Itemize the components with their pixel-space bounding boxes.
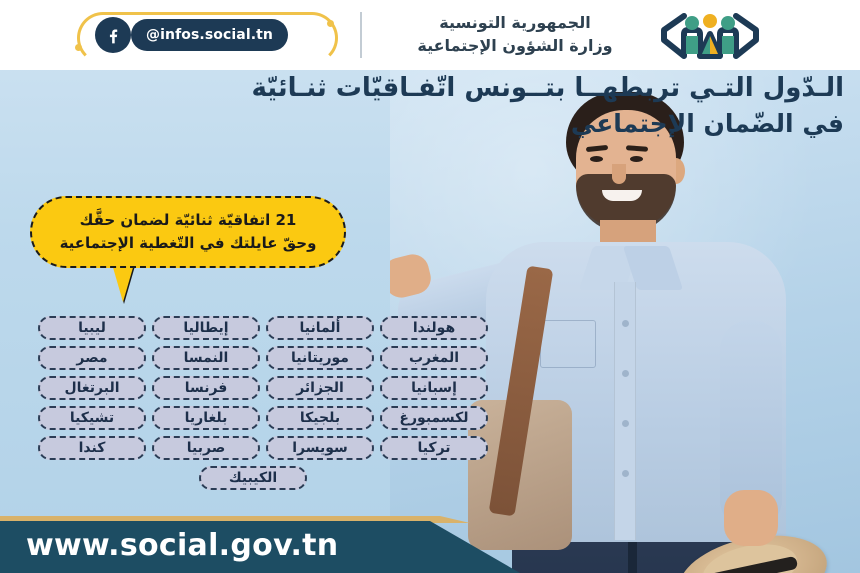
page-footer: www.social.gov.tn [0, 515, 520, 573]
country-chip[interactable]: مصر [38, 346, 146, 370]
chip-row: إسبانيا الجزائر فرنسا البرتغال [18, 376, 488, 400]
country-chip[interactable]: إيطاليا [152, 316, 260, 340]
country-chip[interactable]: بلجيكا [266, 406, 374, 430]
chip-row: المغرب موريتانيا النمسا مصر [18, 346, 488, 370]
swoosh-dot [75, 44, 82, 51]
country-chip[interactable]: الكيبيك [199, 466, 307, 490]
speech-bubble-tail [112, 264, 134, 302]
handle-pill[interactable]: @infos.social.tn [131, 19, 288, 51]
country-chip[interactable]: الجزائر [266, 376, 374, 400]
ministry-name: الجمهورية التونسية وزارة الشؤون الإجتماع… [395, 11, 635, 57]
bubble-line-1: 21 اتفاقيّة ثنائيّة لضمان حقَّك [80, 209, 297, 232]
title-line-1: الـدّول التـي تربطهــا بتــونس اتّفـاقيّ… [241, 74, 844, 104]
chip-row: لكسمبورغ بلجيكا بلغاريا تشيكيا [18, 406, 488, 430]
shirt-button [622, 470, 629, 477]
jeans-leg-split [628, 540, 637, 573]
facebook-icon[interactable] [95, 17, 131, 53]
chip-row: الكيبيك [18, 466, 488, 490]
country-chip[interactable]: إسبانيا [380, 376, 488, 400]
poster-root: @infos.social.tn الجمهورية التونسية وزار… [0, 0, 860, 573]
title-line-2: في الضّمان الإجتماعي [241, 110, 844, 139]
shirt-button [622, 320, 629, 327]
country-chip[interactable]: هولندا [380, 316, 488, 340]
shirt-pocket [540, 320, 596, 368]
handle-text: @infos.social.tn [146, 27, 273, 43]
chip-row: هولندا ألمانيا إيطاليا ليبيا [18, 316, 488, 340]
social-badge-group: @infos.social.tn [95, 0, 302, 70]
country-chip[interactable]: ألمانيا [266, 316, 374, 340]
country-chip[interactable]: لكسمبورغ [380, 406, 488, 430]
page-title: الـدّول التـي تربطهــا بتــونس اتّفـاقيّ… [241, 74, 844, 139]
website-url[interactable]: www.social.gov.tn [26, 528, 338, 563]
ministry-logo [650, 6, 770, 64]
country-chip[interactable]: موريتانيا [266, 346, 374, 370]
shirt-button [622, 420, 629, 427]
smile [602, 190, 642, 201]
page-header: @infos.social.tn الجمهورية التونسية وزار… [0, 0, 860, 70]
bubble-line-2: وحقّ عايلتك في التّغطية الإجتماعية [60, 232, 317, 255]
lowered-hand [724, 490, 778, 546]
country-chip[interactable]: تشيكيا [38, 406, 146, 430]
country-chip[interactable]: النمسا [152, 346, 260, 370]
country-chip[interactable]: سويسرا [266, 436, 374, 460]
country-chip[interactable]: المغرب [380, 346, 488, 370]
eye-left [590, 156, 603, 162]
country-chip[interactable]: فرنسا [152, 376, 260, 400]
country-chip[interactable]: صربيا [152, 436, 260, 460]
ministry-line-2: وزارة الشؤون الإجتماعية [395, 34, 635, 57]
swoosh-dot [327, 20, 334, 27]
header-divider [360, 12, 362, 58]
ministry-line-1: الجمهورية التونسية [395, 11, 635, 34]
nose [612, 164, 626, 184]
speech-bubble: 21 اتفاقيّة ثنائيّة لضمان حقَّك وحقّ عاي… [30, 196, 346, 268]
shirt-button [622, 370, 629, 377]
country-chip[interactable]: كندا [38, 436, 146, 460]
country-chip[interactable]: تركيا [380, 436, 488, 460]
country-chip-grid: هولندا ألمانيا إيطاليا ليبيا المغرب موري… [18, 316, 488, 496]
eye-right [630, 156, 643, 162]
country-chip[interactable]: ليبيا [38, 316, 146, 340]
country-chip[interactable]: البرتغال [38, 376, 146, 400]
chip-row: تركيا سويسرا صربيا كندا [18, 436, 488, 460]
country-chip[interactable]: بلغاريا [152, 406, 260, 430]
